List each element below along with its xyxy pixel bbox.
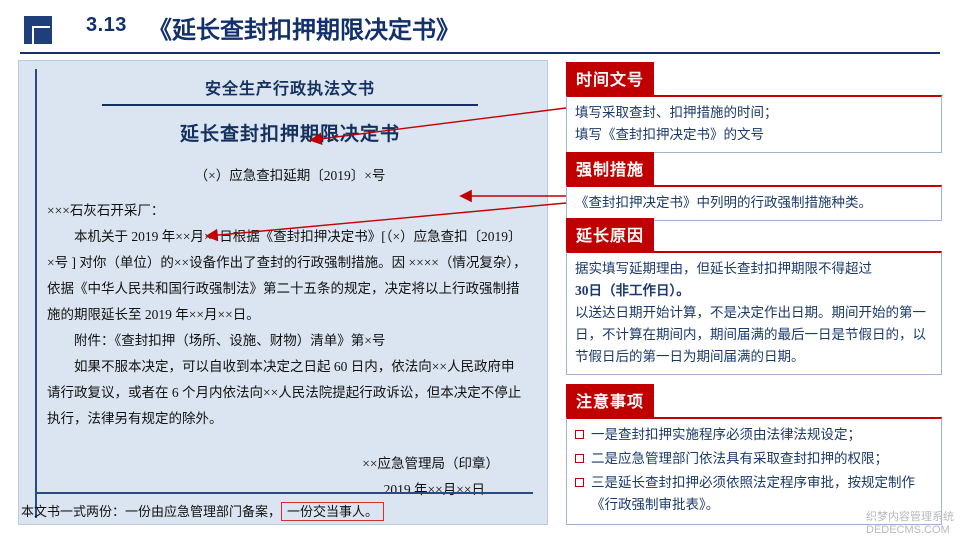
document-paragraph-3: 如果不服本决定，可以自收到本决定之日起 60 日内，依法向××人民政府申请行政复… bbox=[47, 354, 527, 432]
header-divider bbox=[20, 52, 940, 54]
square-bullet-icon bbox=[575, 430, 584, 439]
callout-extension-reason: 延长原因 据实填写延期理由，但延长查封扣押期限不得超过 30日（非工作日）。 以… bbox=[566, 218, 942, 375]
document-preview: 安全生产行政执法文书 延长查封扣押期限决定书 （×）应急查扣延期〔2019〕×号… bbox=[18, 60, 548, 525]
document-agency-rule bbox=[102, 104, 478, 106]
document-footer-rule bbox=[35, 492, 533, 494]
callout-line: 填写采取查封、扣押措施的时间； bbox=[575, 102, 933, 124]
callout-line: 据实填写延期理由，但延长查封扣押期限不得超过 bbox=[575, 258, 933, 280]
callout-time-docnumber: 时间文号 填写采取查封、扣押措施的时间； 填写《查封扣押决定书》的文号 bbox=[566, 62, 942, 153]
document-body: 安全生产行政执法文书 延长查封扣押期限决定书 （×）应急查扣延期〔2019〕×号… bbox=[35, 69, 533, 518]
callout-notes: 注意事项 一是查封扣押实施程序必须由法律法规设定； 二是应急管理部门依法具有采取… bbox=[566, 384, 942, 525]
document-paragraph-2: 附件：《查封扣押（场所、设施、财物）清单》第×号 bbox=[47, 328, 527, 354]
watermark: 织梦内容管理系统DEDECMS.COM bbox=[866, 508, 954, 536]
square-bullet-icon bbox=[575, 454, 584, 463]
callout-line: 填写《查封扣押决定书》的文号 bbox=[575, 124, 933, 146]
page-title: 《延长查封扣押期限决定书》 bbox=[148, 10, 460, 45]
callout-tag: 时间文号 bbox=[566, 62, 654, 95]
document-number: （×）应急查扣延期〔2019〕×号 bbox=[47, 164, 533, 184]
page-header: 3.13 《延长查封扣押期限决定书》 bbox=[0, 0, 960, 56]
document-title: 延长查封扣押期限决定书 bbox=[47, 119, 533, 146]
document-paragraph-1: 本机关于 2019 年××月××日根据《查封扣押决定书》[（×）应急查扣〔201… bbox=[47, 224, 527, 328]
document-agency-line: 安全生产行政执法文书 bbox=[47, 75, 533, 99]
document-footer-highlight: 一份交当事人。 bbox=[281, 502, 384, 521]
logo-icon bbox=[24, 16, 52, 44]
list-item-label: 二是应急管理部门依法具有采取查封扣押的权限； bbox=[591, 451, 888, 466]
list-item-label: 三是延长查封扣押必须依照法定程序审批，按规定制作《行政强制审批表》。 bbox=[591, 475, 915, 512]
document-footer-text: 本文书一式两份：一份由应急管理部门备案， bbox=[21, 504, 281, 519]
square-bullet-icon bbox=[575, 478, 584, 487]
callout-line: 《查封扣押决定书》中列明的行政强制措施种类。 bbox=[575, 192, 933, 214]
list-item: 一是查封扣押实施程序必须由法律法规设定； bbox=[575, 424, 933, 446]
document-footer: 本文书一式两份：一份由应急管理部门备案，一份交当事人。 bbox=[21, 501, 541, 520]
list-item-label: 一是查封扣押实施程序必须由法律法规设定； bbox=[591, 427, 861, 442]
callout-line-emphasis: 30日（非工作日）。 bbox=[575, 280, 933, 302]
document-recipient: ×××石灰石开采厂： bbox=[47, 198, 527, 224]
callout-line: 以送达日期开始计算，不是决定作出日期。期间开始的第一日，不计算在期间内，期间届满… bbox=[575, 302, 933, 368]
callout-tag: 延长原因 bbox=[566, 218, 654, 251]
list-item: 二是应急管理部门依法具有采取查封扣押的权限； bbox=[575, 448, 933, 470]
callout-tag: 强制措施 bbox=[566, 152, 654, 185]
section-number: 3.13 bbox=[86, 14, 127, 37]
callout-coercive-measure: 强制措施 《查封扣押决定书》中列明的行政强制措施种类。 bbox=[566, 152, 942, 221]
document-signature: ××应急管理局（印章） bbox=[47, 452, 533, 472]
document-date: 2019 年××月××日 bbox=[47, 478, 533, 498]
callout-tag: 注意事项 bbox=[566, 384, 654, 417]
